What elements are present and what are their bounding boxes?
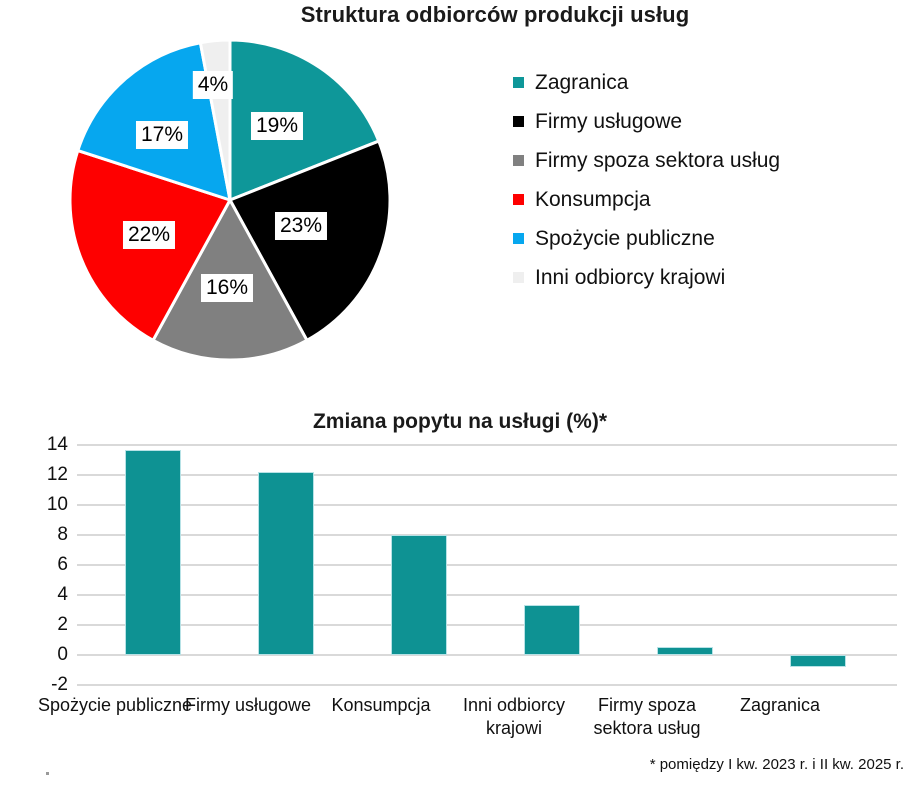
legend-item-firmy-spoza[interactable]: Firmy spoza sektora usług bbox=[513, 141, 903, 180]
legend-item-label: Konsumpcja bbox=[535, 188, 651, 212]
pie-label-firmy-uslugowe: 23% bbox=[275, 212, 327, 240]
legend-item-konsumpcja[interactable]: Konsumpcja bbox=[513, 180, 903, 219]
pie-label-firmy-spoza: 16% bbox=[201, 274, 253, 302]
bar-chart-plot-area bbox=[77, 442, 897, 686]
y-tick-8: 8 bbox=[8, 524, 68, 546]
gridline-4 bbox=[77, 594, 897, 596]
legend-item-zagranica[interactable]: Zagranica bbox=[513, 63, 903, 102]
legend-item-label: Zagranica bbox=[535, 71, 628, 95]
y-tick-10: 10 bbox=[8, 494, 68, 516]
gridline-8 bbox=[77, 534, 897, 536]
legend-item-label: Spożycie publiczne bbox=[535, 227, 715, 251]
legend-item-label: Firmy spoza sektora usług bbox=[535, 149, 780, 173]
legend-item-inni-odbiorcy[interactable]: Inni odbiorcy krajowi bbox=[513, 258, 903, 297]
y-tick-minus2: -2 bbox=[8, 674, 68, 696]
gridline-14 bbox=[77, 444, 897, 446]
legend-item-label: Inni odbiorcy krajowi bbox=[535, 266, 725, 290]
gridline-minus2 bbox=[77, 684, 897, 686]
legend-item-label: Firmy usługowe bbox=[535, 110, 682, 134]
chart-footnote: * pomiędzy I kw. 2023 r. i II kw. 2025 r… bbox=[650, 756, 904, 773]
legend-swatch-icon bbox=[513, 194, 524, 205]
y-tick-6: 6 bbox=[8, 554, 68, 576]
bar-firmy-uslugowe[interactable] bbox=[258, 472, 314, 655]
legend-swatch-icon bbox=[513, 233, 524, 244]
bar-chart-y-axis: 14 12 10 8 6 4 2 0 -2 bbox=[0, 442, 68, 686]
decorative-dot bbox=[46, 772, 49, 775]
pie-label-konsumpcja: 22% bbox=[123, 221, 175, 249]
y-tick-2: 2 bbox=[8, 614, 68, 636]
y-tick-0: 0 bbox=[8, 644, 68, 666]
legend-swatch-icon bbox=[513, 77, 524, 88]
legend-item-firmy-uslugowe[interactable]: Firmy usługowe bbox=[513, 102, 903, 141]
bar-zagranica[interactable] bbox=[790, 655, 846, 667]
gridline-6 bbox=[77, 564, 897, 566]
pie-chart-graphic: 19% 23% 16% 22% 17% 4% bbox=[45, 18, 415, 378]
legend-item-spozycie-publiczne[interactable]: Spożycie publiczne bbox=[513, 219, 903, 258]
pie-chart-panel: Struktura odbiorców produkcji usług 19% … bbox=[0, 0, 920, 392]
bar-chart-panel: Zmiana popytu na usługi (%)* 14 12 10 8 … bbox=[0, 404, 920, 786]
legend-swatch-icon bbox=[513, 116, 524, 127]
pie-label-inni-odbiorcy: 4% bbox=[193, 71, 233, 99]
gridline-10 bbox=[77, 504, 897, 506]
x-tick-zagranica: Zagranica bbox=[700, 694, 860, 717]
bar-inni-odbiorcy-krajowi[interactable] bbox=[524, 605, 580, 655]
bar-spozycie-publiczne[interactable] bbox=[125, 450, 181, 655]
y-tick-4: 4 bbox=[8, 584, 68, 606]
gridline-12 bbox=[77, 474, 897, 476]
y-tick-12: 12 bbox=[8, 464, 68, 486]
y-tick-14: 14 bbox=[8, 434, 68, 456]
bar-chart-title: Zmiana popytu na usługi (%)* bbox=[200, 410, 720, 434]
pie-legend: Zagranica Firmy usługowe Firmy spoza sek… bbox=[513, 63, 903, 297]
pie-label-spozycie-publiczne: 17% bbox=[136, 121, 188, 149]
bar-konsumpcja[interactable] bbox=[391, 535, 447, 655]
legend-swatch-icon bbox=[513, 272, 524, 283]
gridline-0 bbox=[77, 654, 897, 656]
legend-swatch-icon bbox=[513, 155, 524, 166]
bar-firmy-spoza-sektora-uslug[interactable] bbox=[657, 647, 713, 655]
pie-label-zagranica: 19% bbox=[251, 112, 303, 140]
gridline-2 bbox=[77, 624, 897, 626]
